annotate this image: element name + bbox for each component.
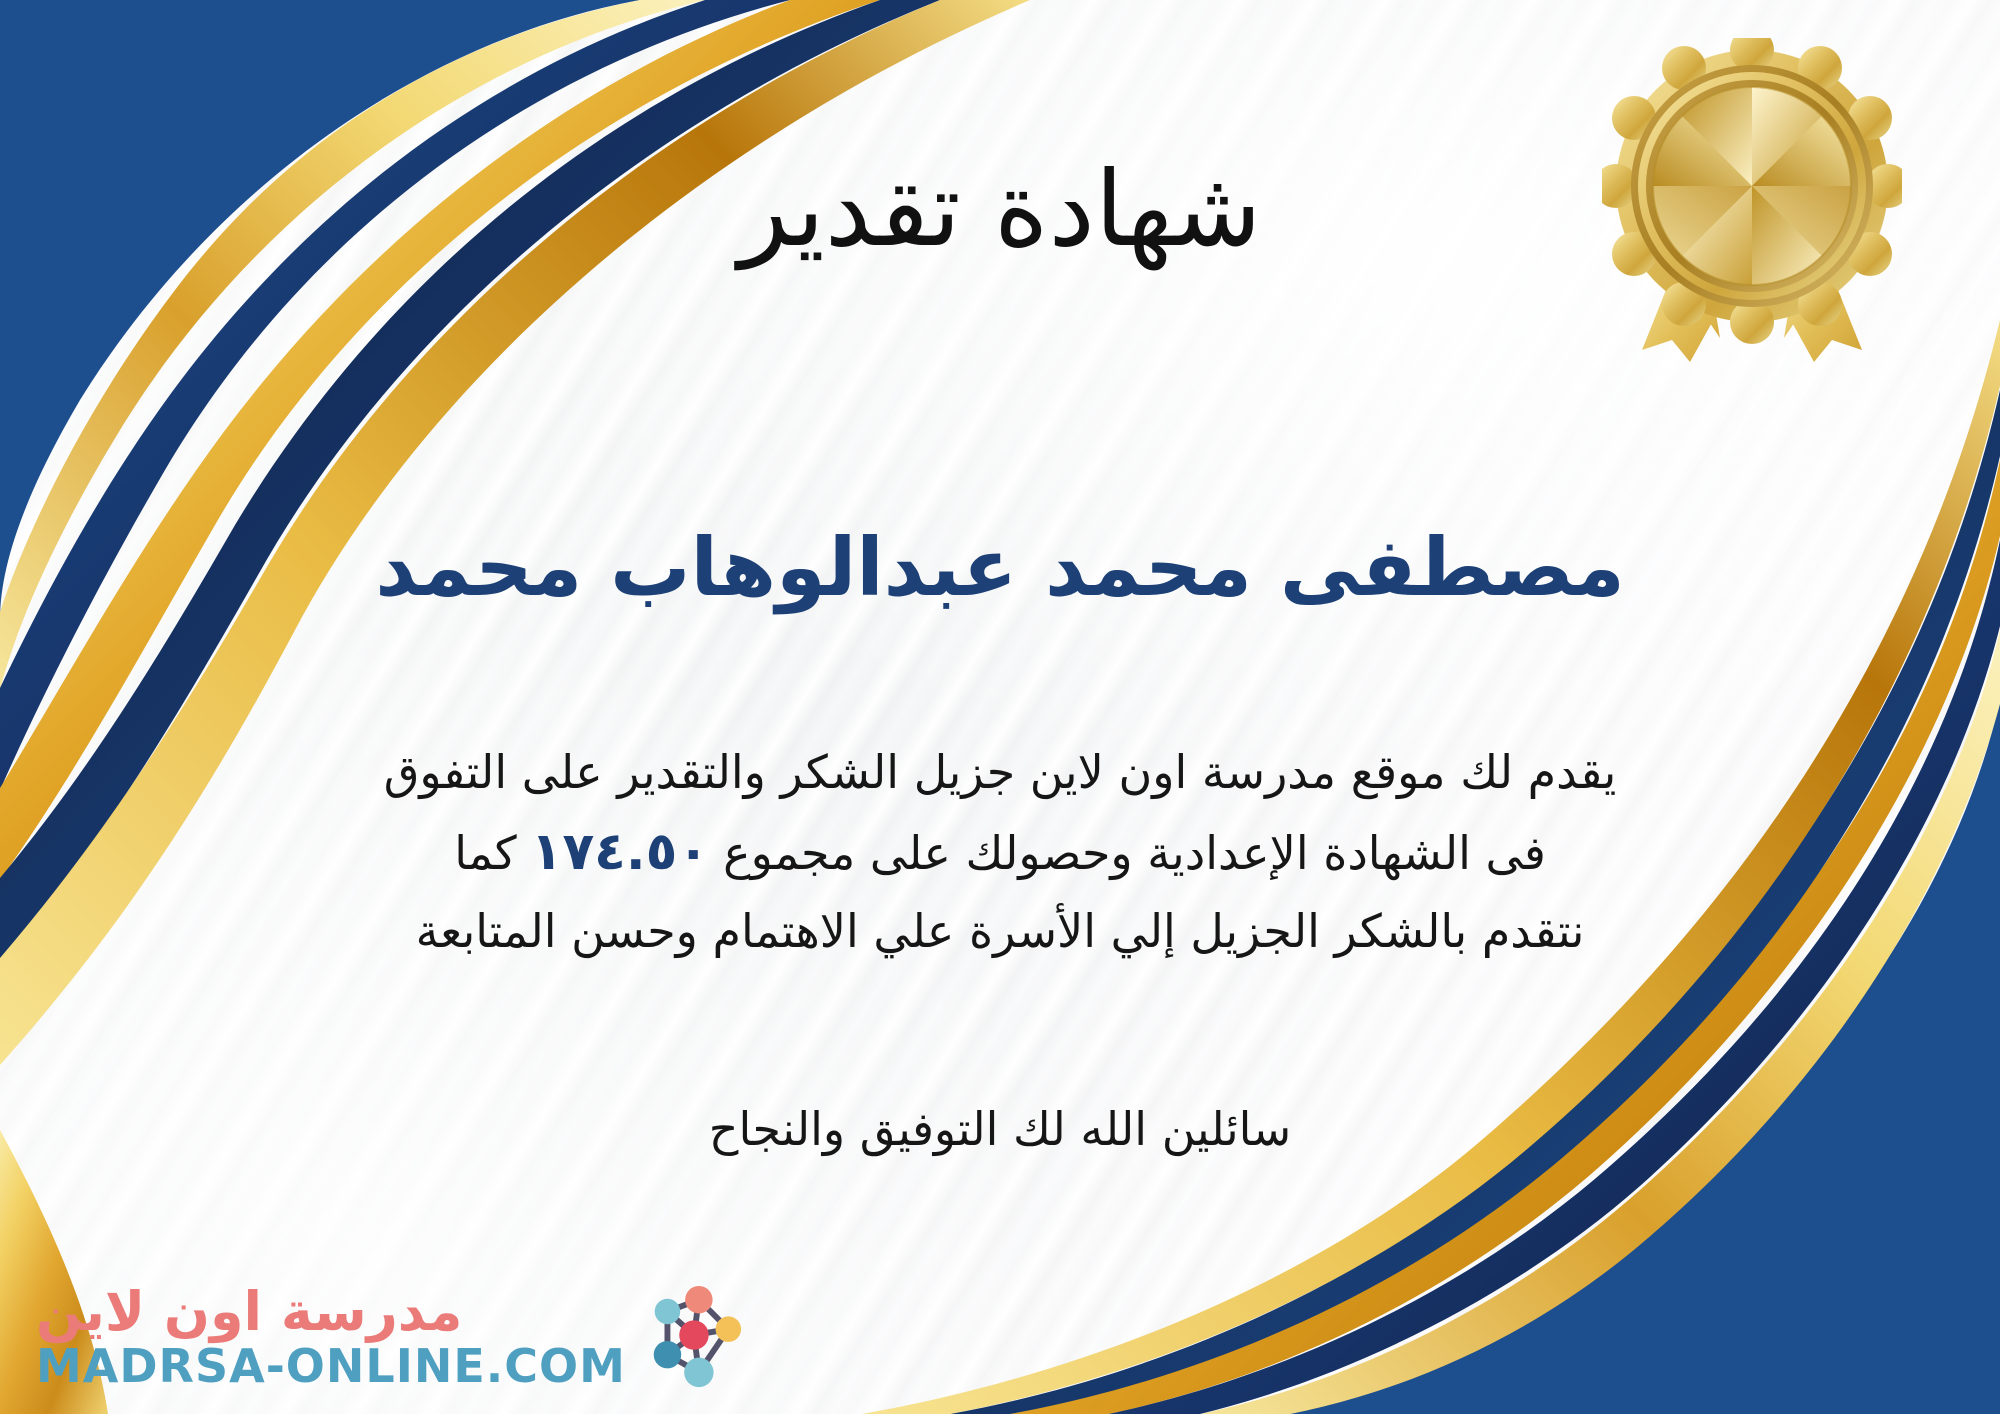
brand-logo[interactable]: مدرسة اون لاين MADRSA-ONLINE.COM: [36, 1284, 746, 1392]
body-line-2-suffix: كما: [454, 826, 517, 880]
body-line-3: نتقدم بالشكر الجزيل إلي الأسرة علي الاهت…: [55, 894, 1945, 969]
certificate-body-text: يقدم لك موقع مدرسة اون لاين جزيل الشكر و…: [55, 735, 1945, 968]
brand-name-arabic: مدرسة اون لاين: [36, 1284, 462, 1341]
closing-line: سائلين الله لك التوفيق والنجاح: [0, 1095, 2000, 1164]
brand-website-url[interactable]: MADRSA-ONLINE.COM: [36, 1341, 626, 1392]
brand-text-block: مدرسة اون لاين MADRSA-ONLINE.COM: [36, 1284, 626, 1391]
network-nodes-icon: [638, 1284, 746, 1392]
body-line-2: فى الشهادة الإعدادية وحصولك على مجموع١٧٤…: [55, 810, 1945, 894]
certificate-page: شهادة تقدير مصطفى محمد عبدالوهاب محمد يق…: [0, 0, 2000, 1414]
certificate-title: شهادة تقدير: [0, 150, 2000, 270]
recipient-name: مصطفى محمد عبدالوهاب محمد: [0, 520, 2000, 616]
body-line-1: يقدم لك موقع مدرسة اون لاين جزيل الشكر و…: [55, 735, 1945, 810]
body-line-2-prefix: فى الشهادة الإعدادية وحصولك على مجموع: [723, 826, 1546, 880]
score-value: ١٧٤.٥٠: [517, 822, 723, 882]
